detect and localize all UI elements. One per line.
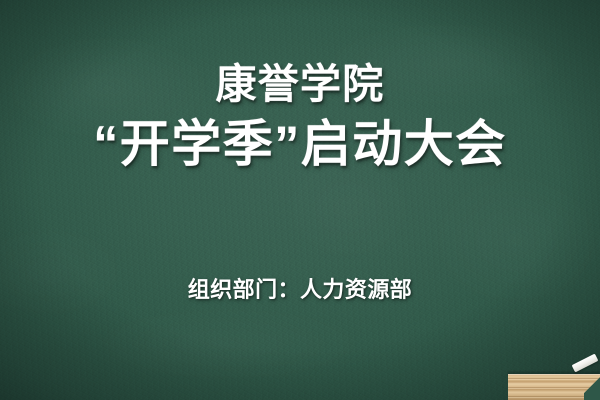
chalk-ledge: [508, 374, 600, 400]
presentation-slide: 康誉学院 “开学季”启动大会 组织部门：人力资源部: [0, 0, 600, 400]
chalk-ledge-bevel: [584, 374, 600, 400]
slide-title: 康誉学院 “开学季”启动大会: [0, 62, 600, 172]
slide-subtitle: 组织部门：人力资源部: [0, 272, 600, 304]
title-line-1: 康誉学院: [0, 62, 600, 108]
slide-content: 康誉学院 “开学季”启动大会 组织部门：人力资源部: [0, 0, 600, 400]
title-line-2: “开学季”启动大会: [0, 116, 600, 172]
